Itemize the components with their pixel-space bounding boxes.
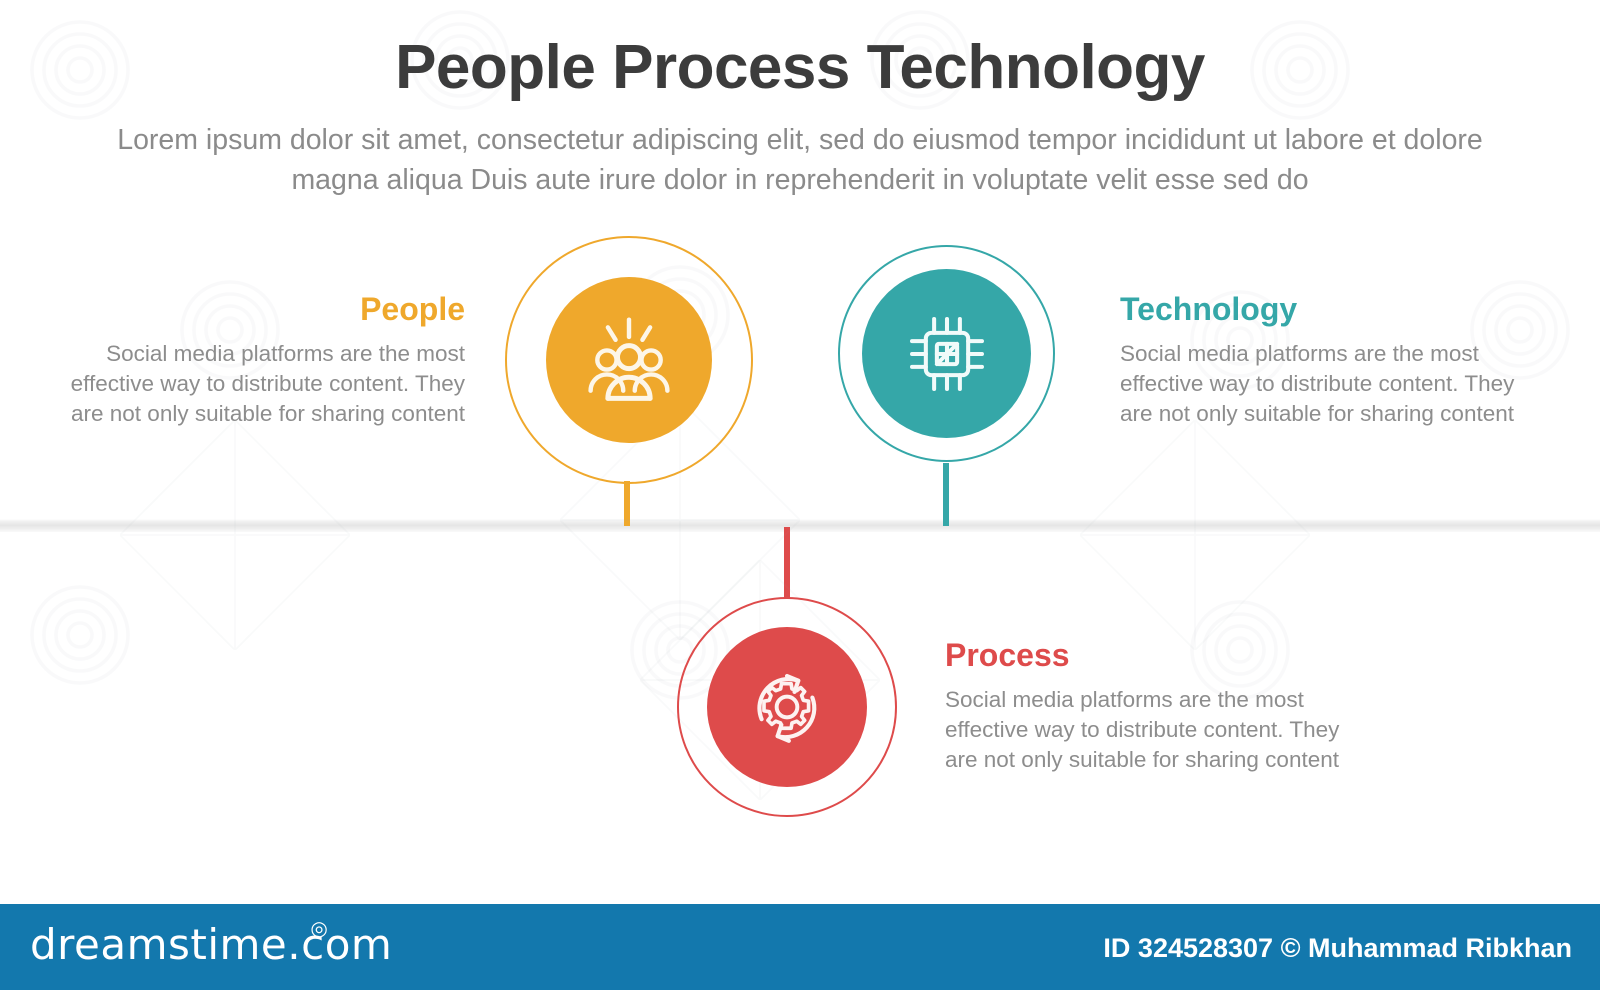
node-process-disc: [707, 627, 867, 787]
node-process[interactable]: [677, 597, 897, 817]
watermark-spiral-icon: [20, 575, 140, 695]
section-process-text: Process Social media platforms are the m…: [945, 638, 1340, 775]
section-technology-text: Technology Social media platforms are th…: [1120, 292, 1525, 429]
section-people-body: Social media platforms are the most effe…: [60, 339, 465, 429]
section-technology-heading: Technology: [1120, 292, 1525, 327]
microchip-icon: [901, 308, 993, 400]
section-process-heading: Process: [945, 638, 1340, 673]
section-process-body: Social media platforms are the most effe…: [945, 685, 1340, 775]
stock-footer-bar: dreamstime.com ◎ ID 324528307 © Muhammad…: [0, 904, 1600, 990]
section-technology-body: Social media platforms are the most effe…: [1120, 339, 1525, 429]
connector-process: [784, 527, 790, 599]
watermark-cross-icon: [120, 420, 350, 650]
section-people-text: People Social media platforms are the mo…: [60, 292, 465, 429]
connector-people: [624, 481, 630, 526]
node-technology-disc: [862, 269, 1031, 438]
page-title: People Process Technology: [0, 32, 1600, 103]
people-group-icon: [581, 312, 677, 408]
copyright-spiral-icon: ◎: [310, 916, 327, 941]
dreamstime-logo[interactable]: dreamstime.com ◎: [30, 924, 328, 966]
node-technology[interactable]: [838, 245, 1055, 462]
section-people-heading: People: [60, 292, 465, 327]
node-people-disc: [546, 277, 712, 443]
infographic-canvas: People Process Technology Lorem ipsum do…: [0, 0, 1600, 990]
gear-cycle-icon: [740, 660, 834, 754]
horizontal-divider: [0, 519, 1600, 532]
watermark-cross-icon: [1080, 420, 1310, 650]
connector-technology: [943, 463, 949, 526]
dreamstime-logo-text: dreamstime.com: [30, 924, 392, 966]
page-subtitle: Lorem ipsum dolor sit amet, consectetur …: [95, 120, 1505, 201]
image-credit: ID 324528307 © Muhammad Ribkhan: [1103, 933, 1572, 964]
node-people[interactable]: [505, 236, 753, 484]
